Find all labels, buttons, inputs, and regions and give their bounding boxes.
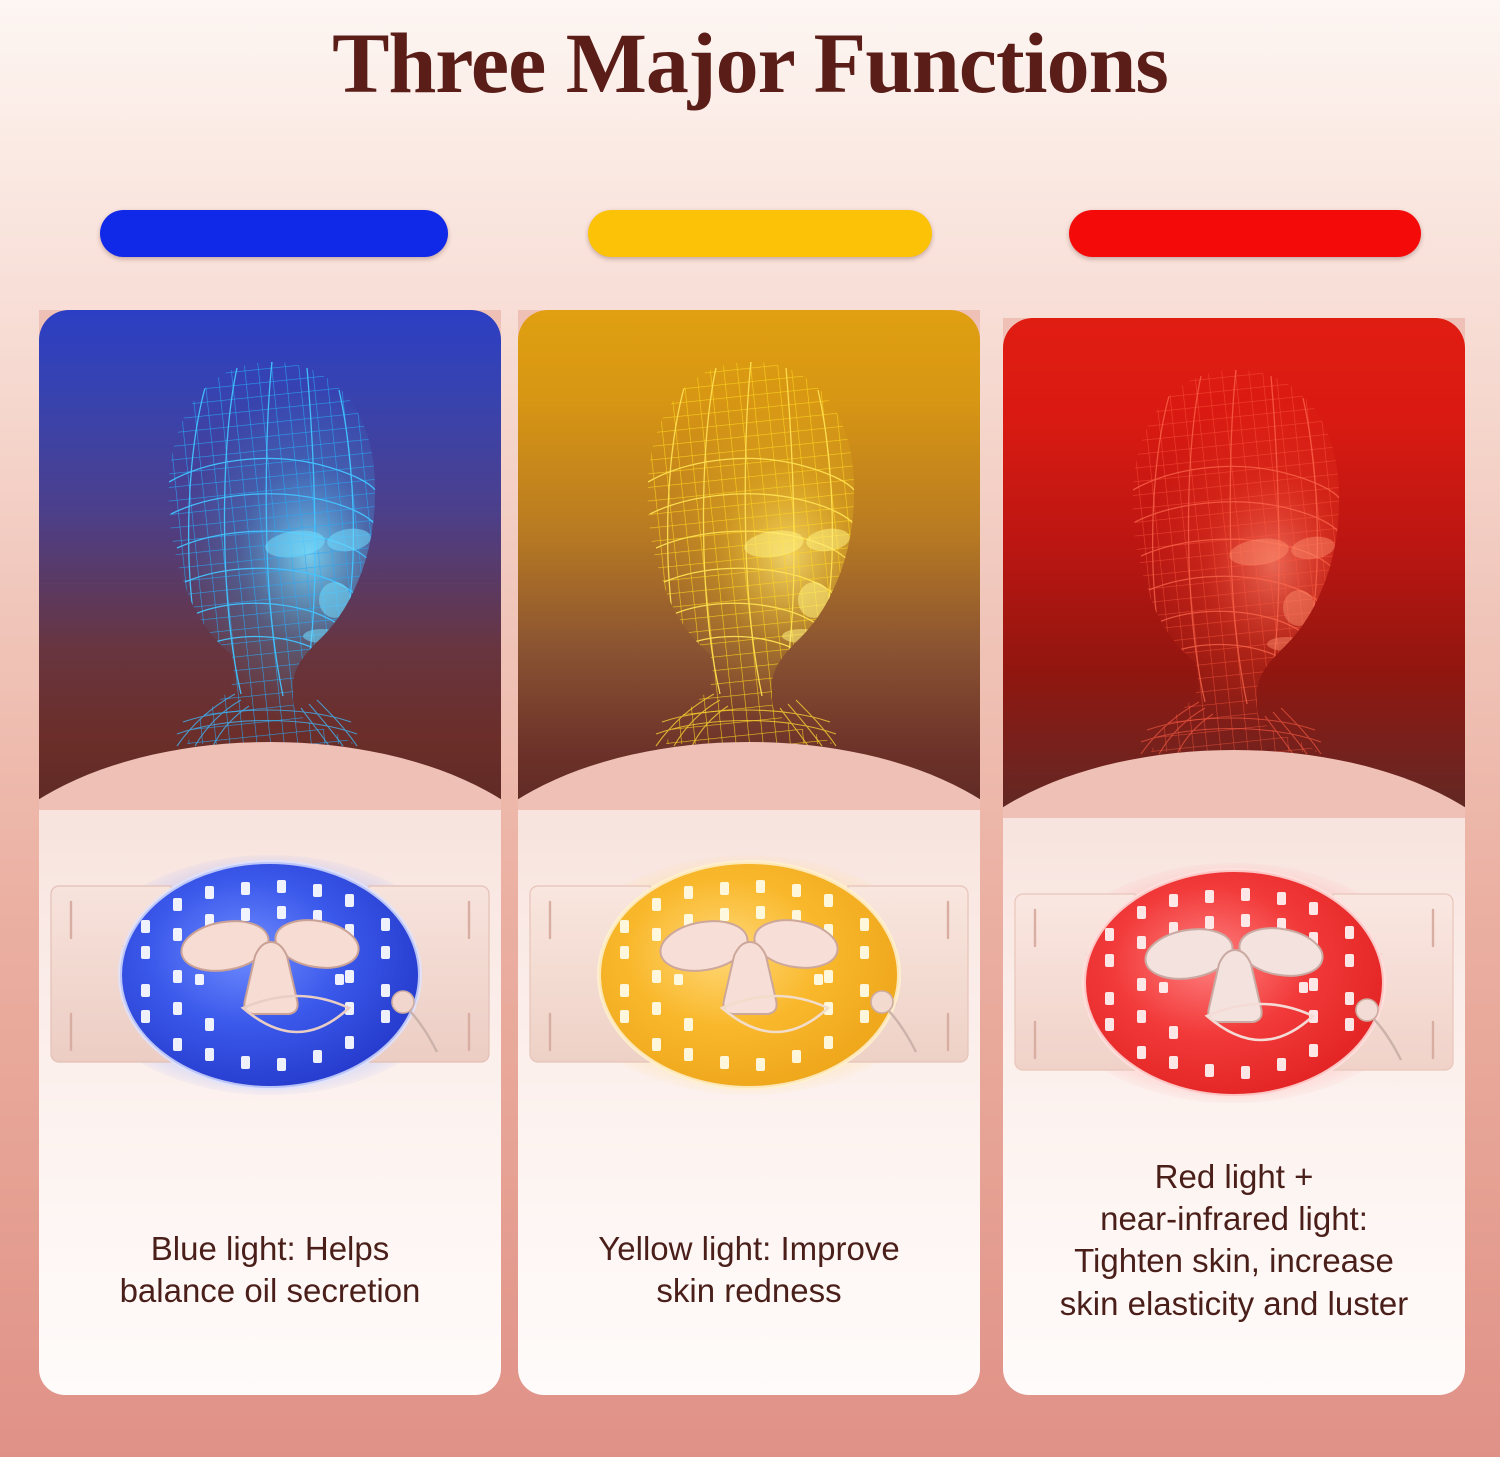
yellow-wireframe-head [596, 348, 906, 748]
blue-led-mask [45, 850, 495, 1100]
function-column-yellow: Yellow light: Improve skin redness [518, 0, 980, 1457]
yellow-led-mask [524, 850, 974, 1100]
blue-hero-panel [39, 310, 501, 810]
blue-light-card: Blue light: Helps balance oil secretion [39, 310, 501, 1395]
red-light-pill [1069, 210, 1421, 257]
yellow-light-card: Yellow light: Improve skin redness [518, 310, 980, 1395]
yellow-hero-panel [518, 310, 980, 810]
red-led-mask-wrap [1003, 858, 1465, 1118]
blue-led-mask-wrap [39, 850, 501, 1110]
blue-light-pill [100, 210, 448, 257]
yellow-light-caption: Yellow light: Improve skin redness [530, 1228, 968, 1312]
red-led-mask [1009, 858, 1459, 1108]
red-light-caption: Red light + near-infrared light: Tighten… [1015, 1156, 1453, 1325]
red-hero-panel [1003, 318, 1465, 818]
blue-wireframe-head [117, 348, 427, 748]
blue-light-caption: Blue light: Helps balance oil secretion [51, 1228, 489, 1312]
red-light-card: Red light + near-infrared light: Tighten… [1003, 318, 1465, 1395]
yellow-light-pill [588, 210, 932, 257]
function-columns: Blue light: Helps balance oil secretion [0, 0, 1500, 1457]
yellow-led-mask-wrap [518, 850, 980, 1110]
function-column-red: Red light + near-infrared light: Tighten… [1003, 0, 1465, 1457]
red-wireframe-head [1081, 356, 1391, 756]
function-column-blue: Blue light: Helps balance oil secretion [39, 0, 501, 1457]
